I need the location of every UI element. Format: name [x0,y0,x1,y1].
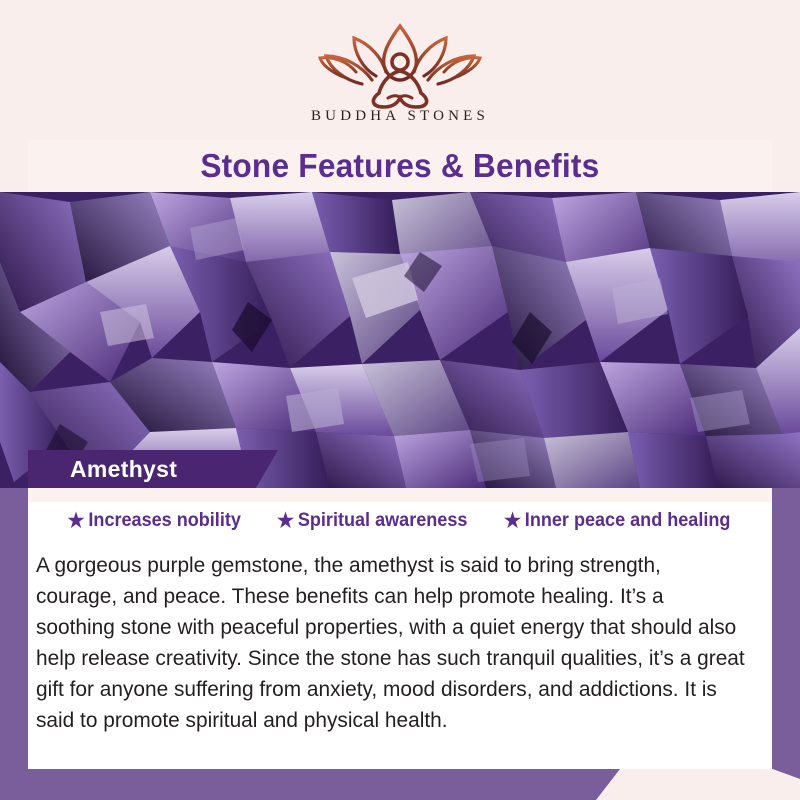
stone-hero-image [0,192,800,488]
stone-info-card: BUDDHA STONES Stone Features & Benefits [0,0,800,800]
benefit-label: Increases nobility [89,510,241,532]
stone-name-banner: Amethyst [28,450,278,488]
star-icon: ★ [504,511,521,531]
benefit-item: ★ Increases nobility [68,510,241,532]
star-icon: ★ [68,511,85,531]
decorative-band-right-tip [772,745,800,779]
amethyst-crystal-cluster-photo [0,192,800,488]
benefit-item: ★ Inner peace and healing [504,510,730,532]
stone-description: A gorgeous purple gemstone, the amethyst… [36,550,746,736]
page-title: Stone Features & Benefits [200,147,599,185]
stone-details-panel: ★ Increases nobility ★ Spiritual awarene… [28,488,772,769]
card-header: BUDDHA STONES Stone Features & Benefits [0,0,800,192]
panel-top-fade [28,488,772,502]
brand-name: BUDDHA STONES [0,108,800,125]
brand-logo: BUDDHA STONES [0,18,800,125]
star-icon: ★ [277,511,294,531]
benefit-label: Inner peace and healing [525,510,731,532]
decorative-band-bottom [0,769,620,800]
page-title-strip: Stone Features & Benefits [28,140,772,192]
benefit-label: Spiritual awareness [298,510,468,532]
benefit-item: ★ Spiritual awareness [277,510,467,532]
benefits-list: ★ Increases nobility ★ Spiritual awarene… [28,510,772,532]
decorative-band-left [0,488,28,800]
lotus-meditation-figure-icon [300,18,500,110]
stone-name-label: Amethyst [70,456,177,483]
